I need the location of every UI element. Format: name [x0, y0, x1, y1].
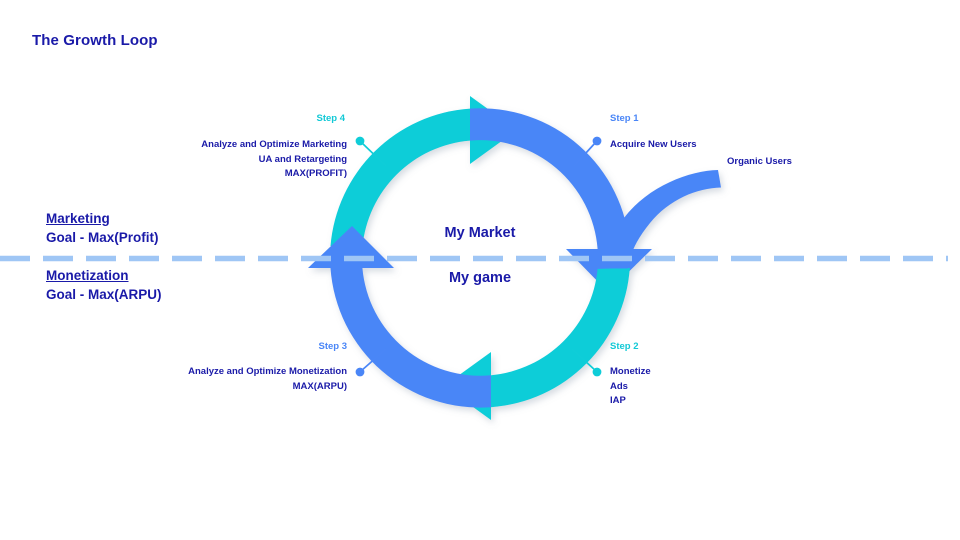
- zone-marketing-goal: Goal - Max(Profit): [46, 228, 159, 247]
- step-3-line-2: MAX(ARPU): [104, 380, 347, 395]
- connector-dot-step1: [593, 137, 602, 146]
- step-2-line-2: Ads: [610, 380, 651, 395]
- step-1-line-1: Acquire New Users: [610, 138, 697, 153]
- center-label-my-market: My Market: [380, 225, 580, 241]
- step-4-line-2: UA and Retargeting: [104, 153, 347, 168]
- step-4-body: Analyze and Optimize Marketing UA and Re…: [104, 138, 347, 182]
- zone-label-monetization: Monetization Goal - Max(ARPU): [46, 266, 162, 304]
- step-4-line-3: MAX(PROFIT): [104, 167, 347, 182]
- growth-loop-slide: The Growth Loop: [0, 0, 960, 540]
- zone-label-marketing: Marketing Goal - Max(Profit): [46, 209, 159, 247]
- step-1-body: Acquire New Users: [610, 138, 697, 153]
- zone-monetization-goal: Goal - Max(ARPU): [46, 285, 162, 304]
- connector-dot-step3: [356, 368, 365, 377]
- connector-dot-step2: [593, 368, 602, 377]
- step-2-body: Monetize Ads IAP: [610, 365, 651, 409]
- step-3-label: Step 3: [247, 341, 347, 352]
- zone-marketing-heading: Marketing: [46, 209, 159, 228]
- zone-monetization-heading: Monetization: [46, 266, 162, 285]
- step-3-body: Analyze and Optimize Monetization MAX(AR…: [104, 365, 347, 394]
- step-1-label: Step 1: [610, 113, 639, 124]
- step-4-line-1: Analyze and Optimize Marketing: [104, 138, 347, 153]
- step-2-label: Step 2: [610, 341, 639, 352]
- connector-dot-step4: [356, 137, 365, 146]
- step-2-line-1: Monetize: [610, 365, 651, 380]
- step-4-label: Step 4: [245, 113, 345, 124]
- center-label-my-game: My game: [380, 270, 580, 286]
- step-3-line-1: Analyze and Optimize Monetization: [104, 365, 347, 380]
- organic-users-label: Organic Users: [727, 156, 792, 167]
- step-2-line-3: IAP: [610, 394, 651, 409]
